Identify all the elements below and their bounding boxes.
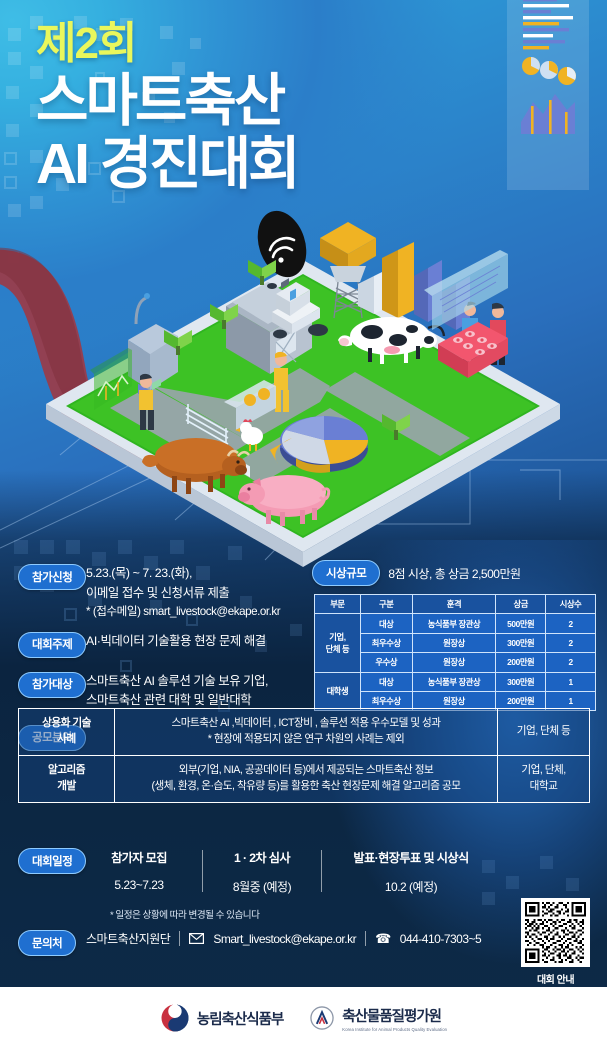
target-badge: 참가대상 — [18, 672, 86, 698]
contact-details: 스마트축산지원단 Smart_livestock@ekape.or.kr ☎ 0… — [86, 930, 481, 947]
target-text: 스마트축산 AI 솔루션 기술 보유 기업, 스마트축산 관련 대학 및 일반대… — [86, 672, 306, 711]
awards-prize-0-2: 200만원 — [496, 653, 546, 672]
topic-row: 대회주제 AI·빅데이터 기술활용 현장 문제 해결 — [0, 632, 306, 658]
category-table: 상용화 기술 사례 스마트축산 AI ,빅데이터 , ICT장비 , 솔루션 적… — [18, 708, 590, 803]
apply-line-3: * (접수메일) smart_livestock@ekape.or.kr — [86, 603, 306, 621]
contact-row: 문의처 스마트축산지원단 Smart_livestock@ekape.or.kr… — [0, 930, 607, 956]
qr-section: 대회 안내 — [521, 898, 590, 986]
footer-logo-ekape: 축산물품질평가원 Korea Institute for Animal Prod… — [309, 1005, 447, 1032]
category-table-wrap: 상용화 기술 사례 스마트축산 AI ,빅데이터 , ICT장비 , 솔루션 적… — [18, 708, 590, 803]
contact-divider-1 — [179, 931, 180, 946]
taegeuk-icon — [160, 1003, 190, 1033]
awards-div-0-0: 대상 — [360, 614, 412, 633]
awards-prize-0-0: 500만원 — [496, 614, 546, 633]
cat-desc-0: 스마트축산 AI ,빅데이터 , ICT장비 , 솔루션 적용 우수모델 및 성… — [115, 709, 498, 756]
schedule-content: 참가자 모집 5.23~7.23 1 · 2차 심사 8월중 (예정) 발표·현… — [86, 848, 607, 895]
awards-div-0-2: 우수상 — [360, 653, 412, 672]
schedule-row: 대회일정 참가자 모집 5.23~7.23 1 · 2차 심사 8월중 (예정) — [0, 848, 607, 895]
awards-prize-0-1: 300만원 — [496, 633, 546, 652]
awards-header-row: 부문 구분 훈격 상금 시상수 — [315, 595, 596, 614]
schedule-divider-1 — [202, 850, 203, 892]
schedule-divider-2 — [321, 850, 322, 892]
qr-code[interactable] — [521, 898, 590, 967]
contact-badge-cell: 문의처 — [0, 930, 86, 956]
contact-org: 스마트축산지원단 — [86, 930, 170, 947]
title-block: 제2회 스마트축산 AI 경진대회 — [36, 22, 298, 195]
cat-target-1-line1: 기업, 단체, — [521, 764, 565, 776]
table-row: 알고리즘 개발 외부(기업, NIA, 공공데이터 등)에서 제공되는 스마트축… — [19, 755, 590, 802]
apply-row: 참가신청 5.23.(목) ~ 7. 23.(화), 이메일 접수 및 신청서류… — [0, 564, 306, 622]
awards-group-1: 대학생 — [315, 672, 361, 711]
cat-desc-0-line1: 스마트축산 AI ,빅데이터 , ICT장비 , 솔루션 적용 우수모델 및 성… — [172, 717, 441, 729]
table-row: 기업, 단체 등 대상 농식품부 장관상 500만원 2 — [315, 614, 596, 633]
awards-honor-0-0: 농식품부 장관상 — [412, 614, 496, 633]
contact-divider-2 — [365, 931, 366, 946]
apply-badge-cell: 참가신청 — [0, 564, 86, 590]
cat-target-1: 기업, 단체, 대학교 — [498, 755, 590, 802]
footer-logo-mafra: 농림축산식품부 — [160, 1003, 283, 1033]
awards-th-2: 훈격 — [412, 595, 496, 614]
contact-email[interactable]: Smart_livestock@ekape.or.kr — [213, 932, 356, 946]
ekape-mark-icon — [309, 1005, 335, 1031]
awards-honor-0-2: 원장상 — [412, 653, 496, 672]
cat-name-0-line2: 사례 — [57, 733, 76, 745]
schedule-label-1: 1 · 2차 심사 — [217, 848, 307, 866]
target-badge-cell: 참가대상 — [0, 672, 86, 698]
schedule-value-2: 10.2 (예정) — [336, 878, 486, 895]
topic-badge-cell: 대회주제 — [0, 632, 86, 658]
awards-th-0: 부문 — [315, 595, 361, 614]
cat-desc-0-line2: * 현장에 적용되지 않은 연구 차원의 사례는 제외 — [208, 733, 404, 745]
apply-badge: 참가신청 — [18, 564, 86, 590]
topic-badge: 대회주제 — [18, 632, 86, 658]
footer-logo-ekape-text: 축산물품질평가원 — [342, 1009, 441, 1025]
cat-target-0: 기업, 단체 등 — [498, 709, 590, 756]
topic-line-1: AI·빅데이터 기술활용 현장 문제 해결 — [86, 632, 306, 652]
cat-name-1: 알고리즘 개발 — [19, 755, 115, 802]
schedule-section: 대회일정 참가자 모집 5.23~7.23 1 · 2차 심사 8월중 (예정) — [0, 848, 607, 921]
schedule-value-0: 5.23~7.23 — [90, 878, 188, 892]
awards-count-0-0: 2 — [546, 614, 596, 633]
awards-th-3: 상금 — [496, 595, 546, 614]
schedule-col-0: 참가자 모집 5.23~7.23 — [90, 848, 188, 892]
awards-th-4: 시상수 — [546, 595, 596, 614]
schedule-col-2: 발표·현장투표 및 시상식 10.2 (예정) — [336, 848, 486, 895]
awards-table: 부문 구분 훈격 상금 시상수 기업, 단체 등 대상 농식품부 장관상 500… — [314, 594, 596, 711]
awards-count-1-0: 1 — [546, 672, 596, 691]
title-line-2: AI 경진대회 — [36, 134, 298, 195]
awards-count-0-2: 2 — [546, 653, 596, 672]
table-row: 상용화 기술 사례 스마트축산 AI ,빅데이터 , ICT장비 , 솔루션 적… — [19, 709, 590, 756]
footer-logo-ekape-textblock: 축산물품질평가원 Korea Institute for Animal Prod… — [342, 1005, 447, 1032]
awards-badge: 시상규모 — [312, 560, 380, 586]
awards-header: 시상규모 8점 시상, 총 상금 2,500만원 — [306, 560, 607, 586]
qr-caption: 대회 안내 — [521, 971, 590, 986]
footer: 농림축산식품부 축산물품질평가원 Korea Institute for Ani… — [0, 987, 607, 1049]
edition-text: 제2회 — [36, 22, 298, 66]
footer-logo-ekape-sub: Korea Institute for Animal Products Qual… — [342, 1027, 447, 1032]
smart-farm-illustration — [0, 190, 607, 570]
schedule-label-0: 참가자 모집 — [90, 848, 188, 866]
contact-phone: 044-410-7303~5 — [400, 932, 481, 946]
cat-target-0-line1: 기업, 단체 등 — [517, 725, 571, 737]
apply-line-1: 5.23.(목) ~ 7. 23.(화), — [86, 564, 306, 584]
contact-section: 문의처 스마트축산지원단 Smart_livestock@ekape.or.kr… — [0, 930, 607, 956]
table-row: 대학생 대상 농식품부 장관상 300만원 1 — [315, 672, 596, 691]
cat-desc-1-line2: (생체, 환경, 온·습도, 착유량 등)를 활용한 축산 현장문제 해결 알고… — [152, 780, 461, 792]
awards-group-0: 기업, 단체 등 — [315, 614, 361, 672]
cat-name-1-line1: 알고리즘 — [48, 764, 85, 776]
target-line-1: 스마트축산 AI 솔루션 기술 보유 기업, — [86, 672, 306, 692]
schedule-grid: 참가자 모집 5.23~7.23 1 · 2차 심사 8월중 (예정) 발표·현… — [90, 848, 607, 895]
poster: 제2회 스마트축산 AI 경진대회 — [0, 0, 607, 1049]
schedule-col-1: 1 · 2차 심사 8월중 (예정) — [217, 848, 307, 895]
awards-honor-1-0: 농식품부 장관상 — [412, 672, 496, 691]
awards-div-1-0: 대상 — [360, 672, 412, 691]
cat-name-1-line2: 개발 — [57, 780, 76, 792]
target-row: 참가대상 스마트축산 AI 솔루션 기술 보유 기업, 스마트축산 관련 대학 … — [0, 672, 306, 711]
cat-desc-1: 외부(기업, NIA, 공공데이터 등)에서 제공되는 스마트축산 정보 (생체… — [115, 755, 498, 802]
awards-summary: 8점 시상, 총 상금 2,500만원 — [388, 565, 520, 582]
awards-prize-1-0: 300만원 — [496, 672, 546, 691]
awards-honor-0-1: 원장상 — [412, 633, 496, 652]
apply-text: 5.23.(목) ~ 7. 23.(화), 이메일 접수 및 신청서류 제출 *… — [86, 564, 306, 622]
cat-desc-1-line1: 외부(기업, NIA, 공공데이터 등)에서 제공되는 스마트축산 정보 — [179, 764, 433, 776]
topic-text: AI·빅데이터 기술활용 현장 문제 해결 — [86, 632, 306, 652]
schedule-badge-cell: 대회일정 — [0, 848, 86, 874]
footer-logo-mafra-text: 농림축산식품부 — [197, 1008, 283, 1029]
dashboard-panel-illustration — [507, 0, 589, 190]
schedule-label-2: 발표·현장투표 및 시상식 — [336, 848, 486, 866]
telephone-icon: ☎ — [375, 931, 391, 947]
awards-div-0-1: 최우수상 — [360, 633, 412, 652]
schedule-value-1: 8월중 (예정) — [217, 878, 307, 895]
title-line-1: 스마트축산 — [36, 71, 298, 132]
awards-count-0-1: 2 — [546, 633, 596, 652]
apply-line-2: 이메일 접수 및 신청서류 제출 — [86, 584, 306, 604]
envelope-icon — [189, 933, 204, 944]
cat-name-0: 상용화 기술 사례 — [19, 709, 115, 756]
schedule-badge: 대회일정 — [18, 848, 86, 874]
cat-name-0-line1: 상용화 기술 — [42, 717, 91, 729]
awards-column: 시상규모 8점 시상, 총 상금 2,500만원 부문 구분 훈격 상금 시상수… — [306, 560, 607, 711]
awards-th-1: 구분 — [360, 595, 412, 614]
cat-target-1-line2: 대학교 — [530, 780, 558, 792]
contact-badge: 문의처 — [18, 930, 76, 956]
